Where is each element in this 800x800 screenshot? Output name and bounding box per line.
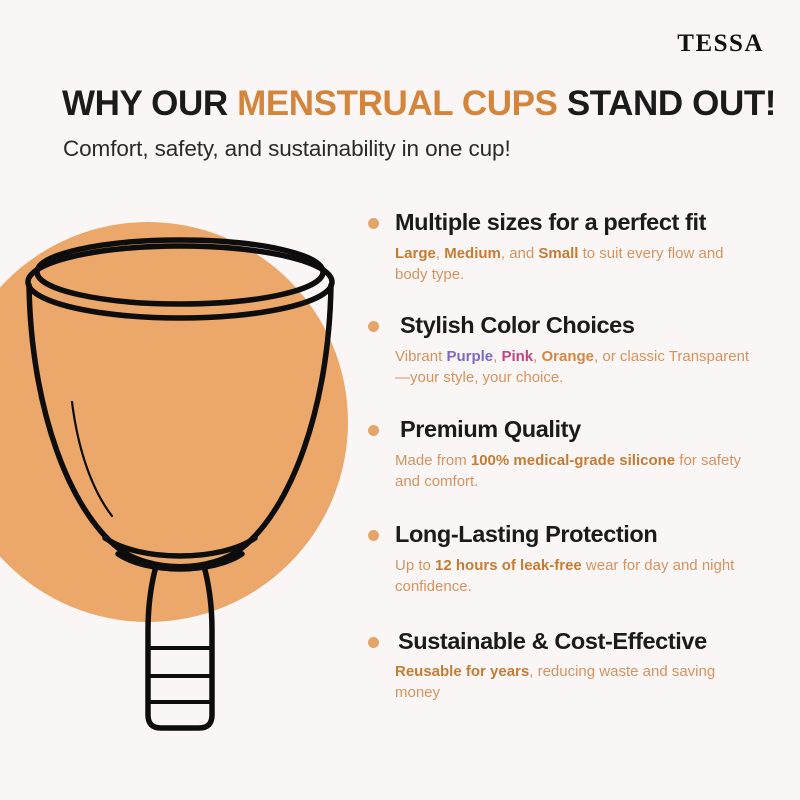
feature-description-part: Vibrant — [395, 348, 446, 365]
feature-description: Made from 100% medical-grade silicone fo… — [395, 450, 755, 493]
feature-title: Long-Lasting Protection — [395, 519, 778, 550]
bullet-dot-icon — [368, 637, 379, 648]
feature-item: Sustainable & Cost-EffectiveReusable for… — [368, 626, 778, 704]
page-title: WHY OUR MENSTRUAL CUPS STAND OUT! — [62, 84, 762, 124]
feature-description-part: 100% medical-grade silicone — [471, 452, 675, 469]
page-title-highlight: MENSTRUAL CUPS — [237, 84, 557, 123]
feature-description-part: 12 hours of leak-free — [435, 557, 582, 574]
page-subtitle: Comfort, safety, and sustainability in o… — [63, 136, 511, 162]
feature-description-part: Pink — [501, 348, 533, 365]
feature-description: Up to 12 hours of leak-free wear for day… — [395, 555, 755, 598]
feature-list: Multiple sizes for a perfect fitLarge, M… — [368, 207, 778, 704]
feature-description: Vibrant Purple, Pink, Orange, or classic… — [395, 346, 755, 389]
cup-body — [29, 285, 331, 567]
bullet-dot-icon — [368, 218, 379, 229]
feature-title: Sustainable & Cost-Effective — [395, 626, 778, 657]
feature-description-part: , — [533, 348, 541, 365]
feature-title: Stylish Color Choices — [395, 310, 778, 341]
feature-description-part: Reusable for years — [395, 663, 529, 680]
feature-title: Premium Quality — [395, 414, 778, 445]
feature-item: Premium QualityMade from 100% medical-gr… — [368, 414, 778, 492]
feature-description-part: Purple — [446, 348, 493, 365]
page-title-pre: WHY OUR — [62, 84, 237, 123]
feature-description-part: Large — [395, 245, 436, 262]
feature-description-part: Small — [538, 245, 578, 262]
feature-description-part: , and — [501, 245, 539, 262]
infographic-page: TESSA WHY OUR MENSTRUAL CUPS STAND OUT! … — [0, 0, 800, 800]
bullet-dot-icon — [368, 425, 379, 436]
feature-description-part: , — [436, 245, 444, 262]
feature-item: Multiple sizes for a perfect fitLarge, M… — [368, 207, 778, 285]
page-title-post: STAND OUT! — [558, 84, 777, 123]
feature-item: Long-Lasting ProtectionUp to 12 hours of… — [368, 519, 778, 597]
brand-logo: TESSA — [677, 30, 764, 58]
feature-item: Stylish Color ChoicesVibrant Purple, Pin… — [368, 310, 778, 388]
menstrual-cup-illustration — [0, 210, 360, 750]
feature-description-part: Orange — [542, 348, 595, 365]
feature-description: Large, Medium, and Small to suit every f… — [395, 243, 755, 286]
feature-title: Multiple sizes for a perfect fit — [395, 207, 778, 238]
bullet-dot-icon — [368, 530, 379, 541]
cup-rim-outer — [28, 246, 332, 318]
bullet-dot-icon — [368, 321, 379, 332]
feature-description-part: Medium — [444, 245, 501, 262]
feature-description-part: Up to — [395, 557, 435, 574]
cup-rim-inner — [37, 240, 323, 304]
feature-description: Reusable for years, reducing waste and s… — [395, 661, 755, 704]
feature-description-part: Made from — [395, 452, 471, 469]
